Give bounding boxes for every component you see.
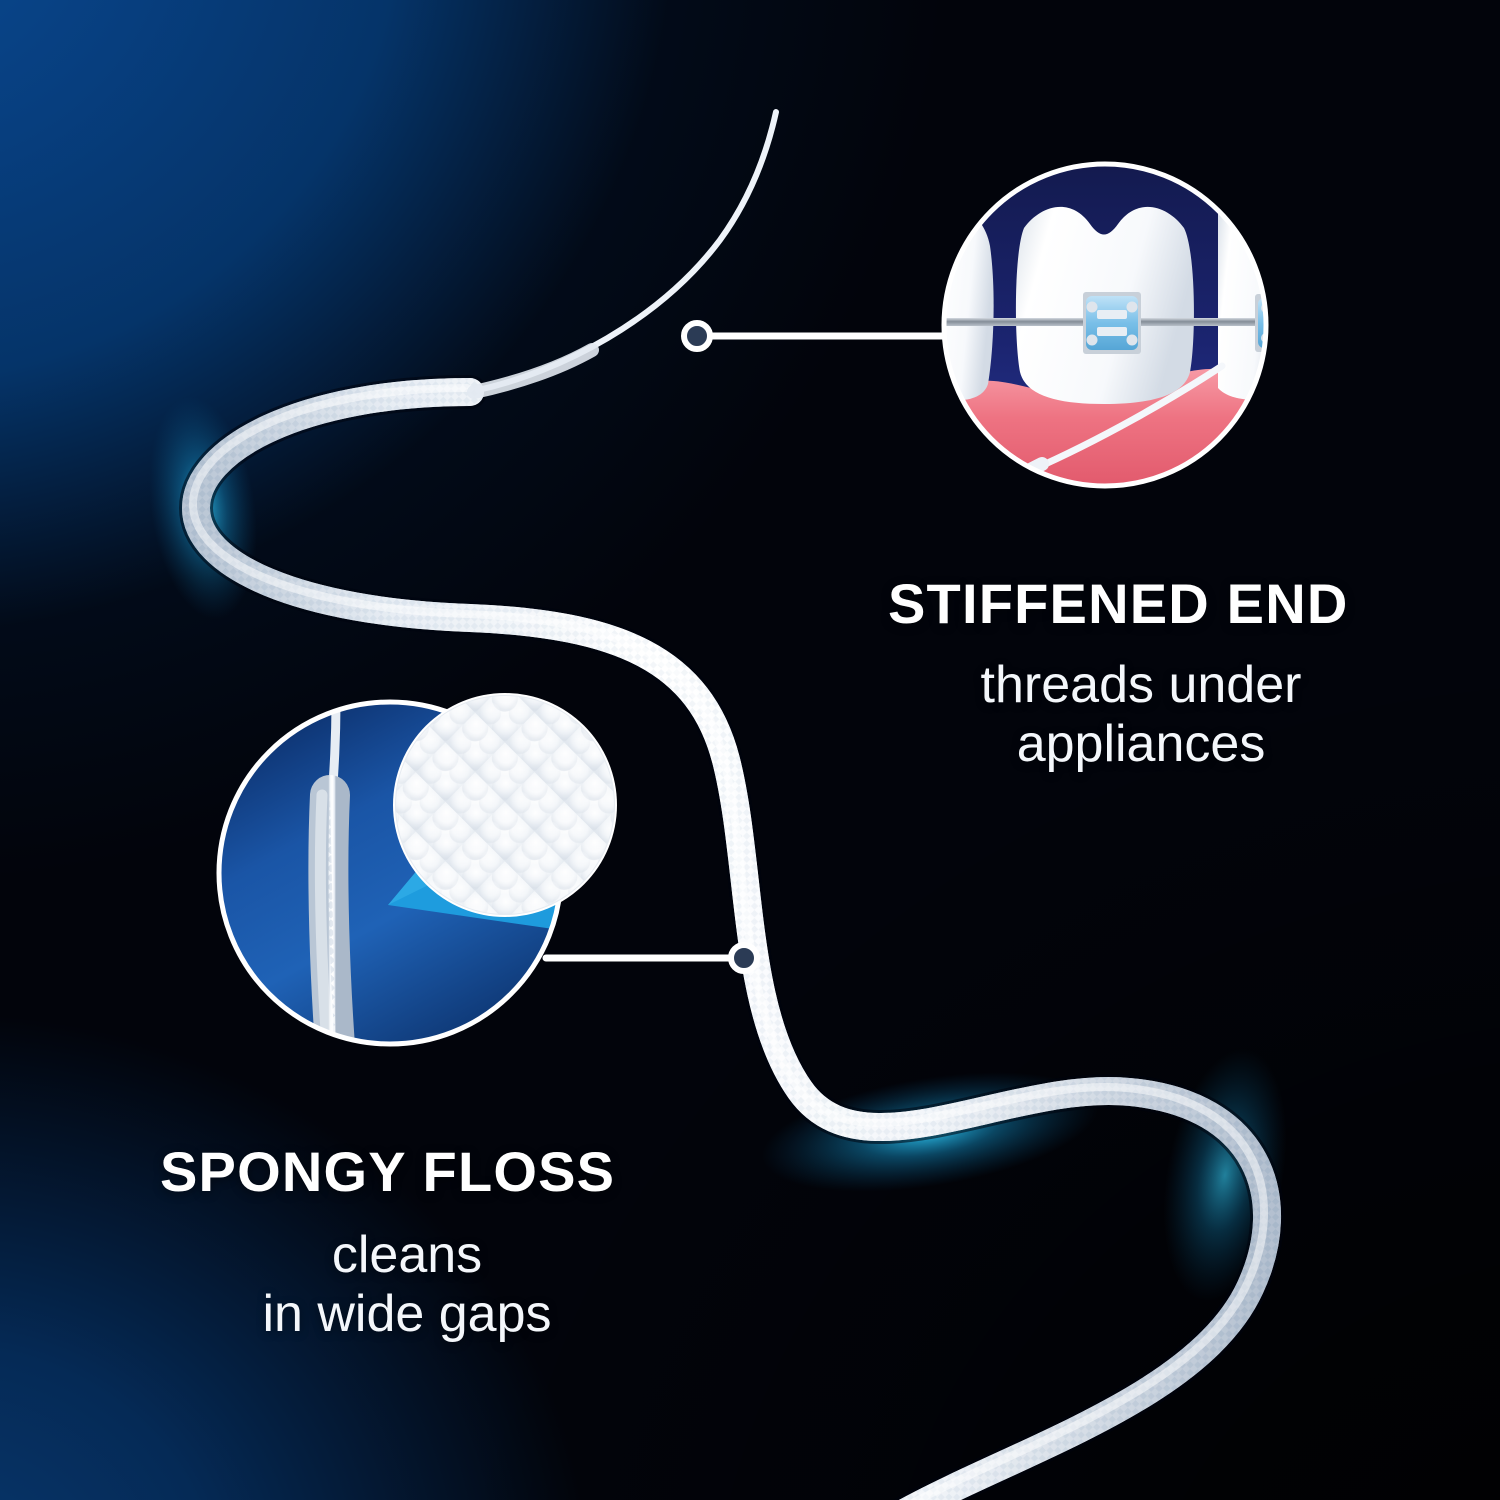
subline-line-1: threads under [894,656,1388,715]
subline-line-2: in wide gaps [174,1285,640,1344]
subline-stiffened-end: threads under appliances [894,656,1388,775]
subline-line-1: cleans [174,1226,640,1285]
headline-spongy-floss: SPONGY FLOSS [160,1144,640,1200]
headline-stiffened-end: STIFFENED END [888,576,1388,632]
callout-text-spongy-floss: SPONGY FLOSS cleans in wide gaps [160,1144,640,1345]
callout-text-stiffened-end: STIFFENED END threads under appliances [888,576,1388,775]
infographic-canvas: STIFFENED END threads under appliances S… [0,0,1500,1500]
subline-spongy-floss: cleans in wide gaps [174,1226,640,1345]
subline-line-2: appliances [894,715,1388,774]
